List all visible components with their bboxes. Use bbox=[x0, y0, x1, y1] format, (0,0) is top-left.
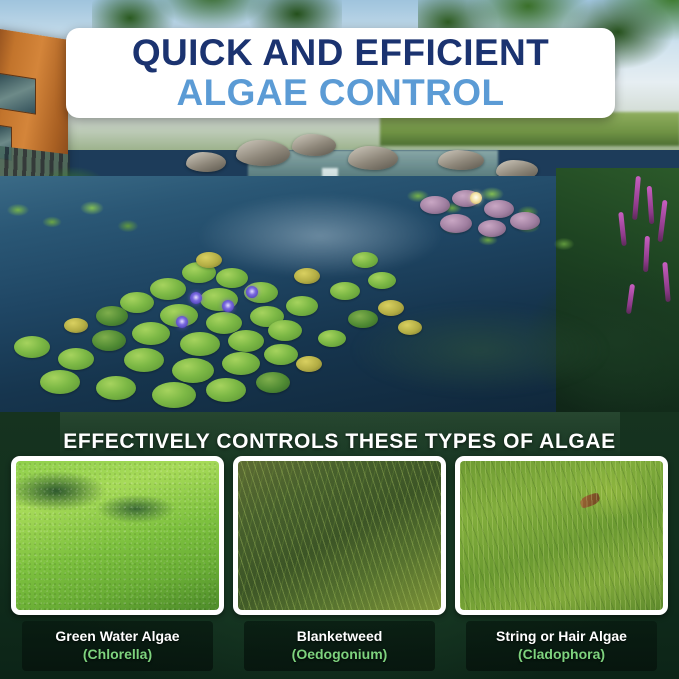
string-hair-algae-image bbox=[460, 461, 663, 610]
lilypad bbox=[228, 330, 264, 352]
algae-types-section: EFFECTIVELY CONTROLS THESE TYPES OF ALGA… bbox=[0, 412, 679, 679]
lilypad bbox=[132, 322, 170, 345]
rock bbox=[236, 140, 290, 166]
algae-common-name: String or Hair Algae bbox=[468, 628, 655, 646]
algae-thumbnail-frame bbox=[455, 456, 668, 615]
floating-leaf bbox=[579, 492, 601, 509]
lilypad bbox=[96, 306, 128, 326]
water-lily-flower bbox=[222, 300, 234, 312]
building-window bbox=[0, 72, 36, 114]
headline-banner: QUICK AND EFFICIENT ALGAE CONTROL bbox=[66, 28, 615, 118]
lilypad bbox=[256, 372, 290, 393]
algae-card: String or Hair Algae (Cladophora) bbox=[455, 456, 668, 671]
lilypad bbox=[172, 358, 214, 383]
lilypad bbox=[206, 378, 246, 402]
algae-caption: String or Hair Algae (Cladophora) bbox=[466, 621, 657, 671]
product-infographic: QUICK AND EFFICIENT ALGAE CONTROL EFFECT… bbox=[0, 0, 679, 679]
lilypad-mat bbox=[0, 196, 150, 276]
water-lily-flower bbox=[176, 316, 188, 328]
blanketweed-image bbox=[238, 461, 441, 610]
lilypad bbox=[96, 376, 136, 400]
algae-caption: Green Water Algae (Chlorella) bbox=[22, 621, 213, 671]
lilypad bbox=[196, 252, 222, 268]
lilypad bbox=[180, 332, 220, 356]
lilypad bbox=[348, 310, 378, 328]
algae-scientific-name: (Cladophora) bbox=[468, 646, 655, 664]
headline-line-2: ALGAE CONTROL bbox=[177, 74, 505, 112]
lilypad bbox=[216, 268, 248, 288]
algae-common-name: Blanketweed bbox=[246, 628, 433, 646]
algae-caption: Blanketweed (Oedogonium) bbox=[244, 621, 435, 671]
lilypad bbox=[378, 300, 404, 316]
algae-thumbnail-frame bbox=[11, 456, 224, 615]
green-water-algae-image bbox=[16, 461, 219, 610]
section-title: EFFECTIVELY CONTROLS THESE TYPES OF ALGA… bbox=[0, 430, 679, 454]
lilypad bbox=[124, 348, 164, 372]
lilypad bbox=[510, 212, 540, 230]
headline-line-1: QUICK AND EFFICIENT bbox=[132, 34, 549, 72]
algae-card-list: Green Water Algae (Chlorella) Blanketwee… bbox=[0, 456, 679, 671]
algae-scientific-name: (Chlorella) bbox=[24, 646, 211, 664]
lilypad bbox=[330, 282, 360, 300]
lilypad bbox=[398, 320, 422, 335]
water-foliage-reflection bbox=[330, 300, 660, 412]
algae-card: Green Water Algae (Chlorella) bbox=[11, 456, 224, 671]
water-lily-flower bbox=[246, 286, 258, 298]
lilypad bbox=[296, 356, 322, 372]
lilypad bbox=[222, 352, 260, 375]
lilypad bbox=[352, 252, 378, 268]
water-lily-flower bbox=[190, 292, 202, 304]
lilypad bbox=[484, 200, 514, 218]
rock bbox=[348, 146, 398, 170]
algae-card: Blanketweed (Oedogonium) bbox=[233, 456, 446, 671]
lilypad bbox=[368, 272, 396, 289]
rock bbox=[292, 134, 336, 156]
lilypad bbox=[286, 296, 318, 316]
lilypad bbox=[478, 220, 506, 237]
lilypad bbox=[440, 214, 472, 233]
lilypad bbox=[264, 344, 298, 365]
rock bbox=[186, 152, 226, 172]
lilypad bbox=[268, 320, 302, 341]
lilypad bbox=[318, 330, 346, 347]
water-lily-flower bbox=[470, 192, 482, 204]
lilypad bbox=[64, 318, 88, 333]
lilypad bbox=[150, 278, 186, 300]
algae-common-name: Green Water Algae bbox=[24, 628, 211, 646]
lilypad bbox=[40, 370, 80, 394]
lilypad bbox=[58, 348, 94, 370]
lilypad bbox=[294, 268, 320, 284]
algae-scientific-name: (Oedogonium) bbox=[246, 646, 433, 664]
lilypad bbox=[420, 196, 450, 214]
algae-thumbnail-frame bbox=[233, 456, 446, 615]
lilypad bbox=[92, 330, 126, 351]
lilypad bbox=[152, 382, 196, 408]
rock bbox=[438, 150, 484, 170]
lilypad bbox=[14, 336, 50, 358]
